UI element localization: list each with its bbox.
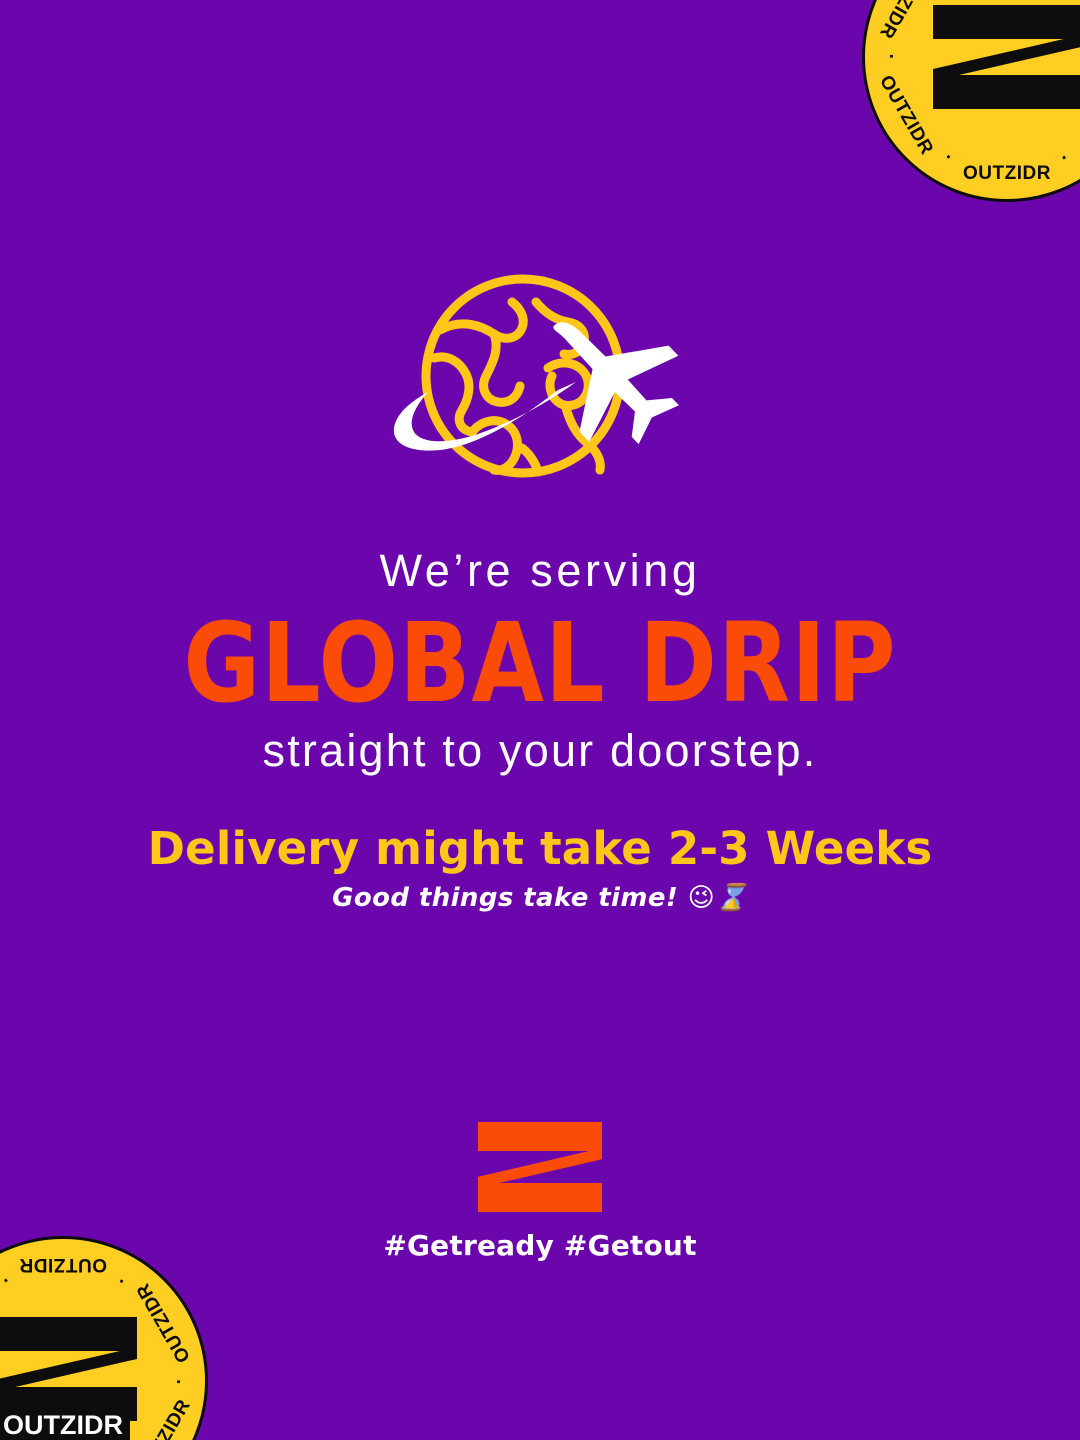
page-title: GLOBAL DRIP [0, 607, 1080, 722]
delivery-reassurance: Good things take time! 😉⌛ [0, 883, 1080, 913]
headline-block: We’re serving GLOBAL DRIP straight to yo… [0, 548, 1080, 773]
brand-badge-top-right: OUTZIDR·OUTZIDR·OUTZIDR·OUTZIDR·OUTZIDR·… [862, 0, 1080, 202]
subhead-text: straight to your doorstep. [0, 728, 1080, 773]
delivery-notice: Delivery might take 2-3 Weeks [0, 822, 1080, 875]
badge-center-mark [932, 5, 1080, 109]
globe-airplane-illustration [0, 272, 1080, 500]
hashtags-text: #Getready #Getout [0, 1229, 1080, 1262]
z-mark-icon [0, 1317, 137, 1421]
globe-airplane-icon [370, 272, 710, 500]
eyebrow-text: We’re serving [0, 548, 1080, 593]
footer-block: #Getready #Getout [0, 1122, 1080, 1262]
badge-center-mark: OUTZIDR [0, 1317, 138, 1440]
brand-badge-bottom-left: OUTZIDR·OUTZIDR·OUTZIDR·OUTZIDR·OUTZIDR·… [0, 1236, 208, 1440]
badge-wordmark: OUTZIDR [0, 1407, 130, 1440]
z-mark-icon [933, 5, 1080, 109]
z-logo-icon [478, 1122, 602, 1212]
promo-poster: OUTZIDR·OUTZIDR·OUTZIDR·OUTZIDR·OUTZIDR·… [0, 0, 1080, 1440]
